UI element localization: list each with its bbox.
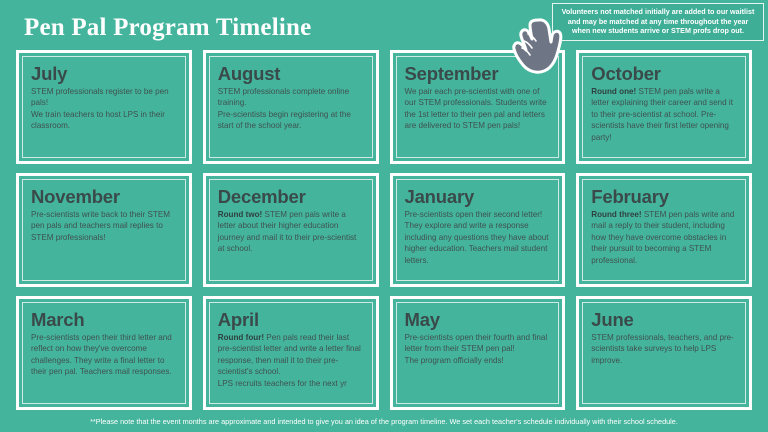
month-title: March — [31, 309, 177, 330]
month-title: August — [218, 63, 364, 84]
month-card-grid: JulySTEM professionals register to be pe… — [16, 50, 752, 410]
month-card-inner: JanuaryPre-scientists open their second … — [396, 179, 560, 281]
month-title: November — [31, 186, 177, 207]
month-card[interactable]: AprilRound four! Pen pals read their las… — [203, 296, 379, 410]
month-title: June — [591, 309, 737, 330]
round-label: Round two! — [218, 210, 263, 219]
month-description: Round two! STEM pen pals write a letter … — [218, 209, 364, 255]
month-card-inner: MarchPre-scientists open their third let… — [22, 302, 186, 404]
month-title: September — [405, 63, 551, 84]
round-label: Round three! — [591, 210, 641, 219]
month-card-inner: AugustSTEM professionals complete online… — [209, 56, 373, 158]
month-description: STEM professionals, teachers, and pre-sc… — [591, 332, 737, 366]
round-label: Round four! — [218, 333, 264, 342]
month-description: Round one! STEM pen pals write a letter … — [591, 86, 737, 143]
callout-line-1: Volunteers not matched initially are add… — [558, 7, 758, 17]
month-card[interactable]: MarchPre-scientists open their third let… — [16, 296, 192, 410]
month-card[interactable]: MayPre-scientists open their fourth and … — [390, 296, 566, 410]
month-title: April — [218, 309, 364, 330]
callout-line-3: when new students arrive or STEM profs d… — [558, 26, 758, 36]
month-card[interactable]: JulySTEM professionals register to be pe… — [16, 50, 192, 164]
month-card[interactable]: FebruaryRound three! STEM pen pals write… — [576, 173, 752, 287]
round-label: Round one! — [591, 87, 636, 96]
month-body-text: Pre-scientists open their second letter!… — [405, 210, 549, 265]
month-description: Round three! STEM pen pals write and mai… — [591, 209, 737, 266]
month-body-text: We pair each pre-scientist with one of o… — [405, 87, 547, 130]
month-card[interactable]: DecemberRound two! STEM pen pals write a… — [203, 173, 379, 287]
month-card[interactable]: OctoberRound one! STEM pen pals write a … — [576, 50, 752, 164]
month-title: July — [31, 63, 177, 84]
month-card-inner: NovemberPre-scientists write back to the… — [22, 179, 186, 281]
month-body-text: Pre-scientists open their fourth and fin… — [405, 333, 548, 365]
month-card-inner: JulySTEM professionals register to be pe… — [22, 56, 186, 158]
page-title: Pen Pal Program Timeline — [24, 14, 311, 42]
callout-tooltip: Volunteers not matched initially are add… — [552, 3, 764, 41]
month-description: Pre-scientists open their fourth and fin… — [405, 332, 551, 366]
month-body-text: STEM professionals register to be pen pa… — [31, 87, 169, 130]
month-card[interactable]: NovemberPre-scientists write back to the… — [16, 173, 192, 287]
month-description: Round four! Pen pals read their last pre… — [218, 332, 364, 389]
month-title: December — [218, 186, 364, 207]
month-card-inner: JuneSTEM professionals, teachers, and pr… — [582, 302, 746, 404]
month-description: STEM professionals register to be pen pa… — [31, 86, 177, 132]
footnote: **Please note that the event months are … — [0, 417, 768, 427]
callout-line-2: and may be matched at any time throughou… — [558, 17, 758, 27]
month-card[interactable]: JuneSTEM professionals, teachers, and pr… — [576, 296, 752, 410]
month-description: Pre-scientists write back to their STEM … — [31, 209, 177, 243]
month-description: We pair each pre-scientist with one of o… — [405, 86, 551, 132]
month-card-inner: AprilRound four! Pen pals read their las… — [209, 302, 373, 404]
month-card-inner: FebruaryRound three! STEM pen pals write… — [582, 179, 746, 281]
month-body-text: STEM professionals, teachers, and pre-sc… — [591, 333, 734, 365]
month-title: February — [591, 186, 737, 207]
month-body-text: STEM professionals complete online train… — [218, 87, 351, 130]
month-card[interactable]: SeptemberWe pair each pre-scientist with… — [390, 50, 566, 164]
month-description: STEM professionals complete online train… — [218, 86, 364, 132]
month-body-text: Pre-scientists write back to their STEM … — [31, 210, 170, 242]
timeline-slide: Pen Pal Program Timeline Volunteers not … — [0, 0, 768, 432]
month-card[interactable]: JanuaryPre-scientists open their second … — [390, 173, 566, 287]
month-title: October — [591, 63, 737, 84]
month-description: Pre-scientists open their third letter a… — [31, 332, 177, 378]
month-description: Pre-scientists open their second letter!… — [405, 209, 551, 266]
month-title: January — [405, 186, 551, 207]
month-card-inner: DecemberRound two! STEM pen pals write a… — [209, 179, 373, 281]
month-card-inner: MayPre-scientists open their fourth and … — [396, 302, 560, 404]
month-card-inner: OctoberRound one! STEM pen pals write a … — [582, 56, 746, 158]
month-card-inner: SeptemberWe pair each pre-scientist with… — [396, 56, 560, 158]
month-body-text: Pre-scientists open their third letter a… — [31, 333, 172, 376]
month-title: May — [405, 309, 551, 330]
month-card[interactable]: AugustSTEM professionals complete online… — [203, 50, 379, 164]
